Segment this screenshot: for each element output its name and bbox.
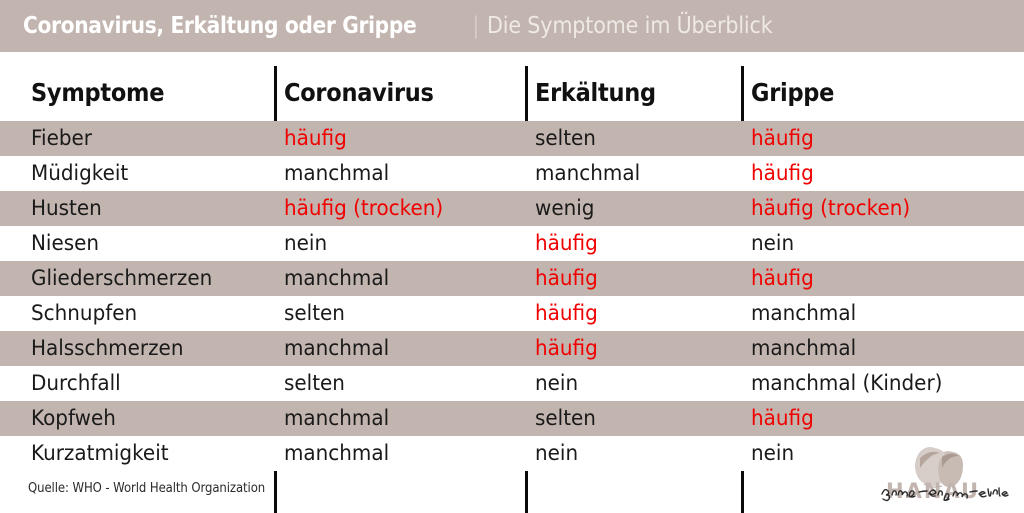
cell-erkaeltung: nein: [535, 366, 578, 401]
header-banner: Coronavirus, Erkältung oder Grippe | Die…: [0, 0, 1024, 52]
cell-erkaeltung: häufig: [535, 296, 598, 331]
cell-coronavirus: manchmal: [284, 156, 389, 191]
cell-grippe: nein: [751, 436, 794, 471]
page-title-subtitle: Die Symptome im Überblick: [487, 13, 773, 39]
cell-coronavirus: häufig (trocken): [284, 191, 443, 226]
header-title: Coronavirus, Erkältung oder Grippe | Die…: [23, 13, 804, 39]
source-note: Quelle: WHO - World Health Organization: [28, 481, 265, 496]
infographic-page: Coronavirus, Erkältung oder Grippe | Die…: [0, 0, 1024, 512]
cell-symptom: Kopfweh: [31, 401, 116, 436]
cell-erkaeltung: selten: [535, 401, 596, 436]
cell-grippe: häufig: [751, 156, 814, 191]
table-row: Durchfallseltenneinmanchmal (Kinder): [0, 366, 1024, 401]
cell-grippe: häufig: [751, 121, 814, 156]
cell-erkaeltung: manchmal: [535, 156, 640, 191]
table-row: Halsschmerzenmanchmalhäufigmanchmal: [0, 331, 1024, 366]
cell-symptom: Müdigkeit: [31, 156, 128, 191]
table-row: Müdigkeitmanchmalmanchmalhäufig: [0, 156, 1024, 191]
column-header-erkaeltung: Erkältung: [535, 78, 656, 107]
cell-coronavirus: manchmal: [284, 436, 389, 471]
table-row: Niesenneinhäufignein: [0, 226, 1024, 261]
cell-symptom: Kurzatmigkeit: [31, 436, 169, 471]
cell-coronavirus: häufig: [284, 121, 347, 156]
cell-coronavirus: manchmal: [284, 331, 389, 366]
table-row: Kopfwehmanchmalseltenhäufig: [0, 401, 1024, 436]
table-row: Fieberhäufigseltenhäufig: [0, 121, 1024, 156]
cell-coronavirus: selten: [284, 366, 345, 401]
cell-symptom: Halsschmerzen: [31, 331, 183, 366]
cell-coronavirus: manchmal: [284, 261, 389, 296]
cell-symptom: Fieber: [31, 121, 92, 156]
cell-erkaeltung: häufig: [535, 261, 598, 296]
cell-grippe: manchmal: [751, 296, 856, 331]
cell-symptom: Niesen: [31, 226, 99, 261]
table-row: Kurzatmigkeitmanchmalneinnein: [0, 436, 1024, 471]
column-header-grippe: Grippe: [751, 78, 834, 107]
cell-grippe: häufig: [751, 261, 814, 296]
title-separator: |: [472, 13, 480, 39]
table-row: Gliederschmerzenmanchmalhäufighäufig: [0, 261, 1024, 296]
cell-symptom: Durchfall: [31, 366, 121, 401]
hanau-city-logo: HANAU: [872, 444, 1012, 506]
cell-symptom: Husten: [31, 191, 102, 226]
page-title-main: Coronavirus, Erkältung oder Grippe: [23, 13, 416, 39]
cell-erkaeltung: selten: [535, 121, 596, 156]
cell-erkaeltung: häufig: [535, 226, 598, 261]
cell-grippe: nein: [751, 226, 794, 261]
column-header-coronavirus: Coronavirus: [284, 78, 434, 107]
symptom-comparison-table: Symptome Coronavirus Erkältung Grippe Fi…: [0, 52, 1024, 464]
table-row: Schnupfenseltenhäufigmanchmal: [0, 296, 1024, 331]
table-body: FieberhäufigseltenhäufigMüdigkeitmanchma…: [0, 121, 1024, 471]
table-row: Hustenhäufig (trocken)wenighäufig (trock…: [0, 191, 1024, 226]
cell-grippe: häufig (trocken): [751, 191, 910, 226]
cell-symptom: Gliederschmerzen: [31, 261, 212, 296]
cell-coronavirus: nein: [284, 226, 327, 261]
cell-erkaeltung: häufig: [535, 331, 598, 366]
cell-coronavirus: selten: [284, 296, 345, 331]
cell-erkaeltung: nein: [535, 436, 578, 471]
cell-grippe: manchmal (Kinder): [751, 366, 942, 401]
column-header-symptome: Symptome: [31, 78, 164, 107]
cell-symptom: Schnupfen: [31, 296, 137, 331]
cell-erkaeltung: wenig: [535, 191, 594, 226]
cell-coronavirus: manchmal: [284, 401, 389, 436]
cell-grippe: häufig: [751, 401, 814, 436]
table-header-row: Symptome Coronavirus Erkältung Grippe: [0, 52, 1024, 121]
cell-grippe: manchmal: [751, 331, 856, 366]
